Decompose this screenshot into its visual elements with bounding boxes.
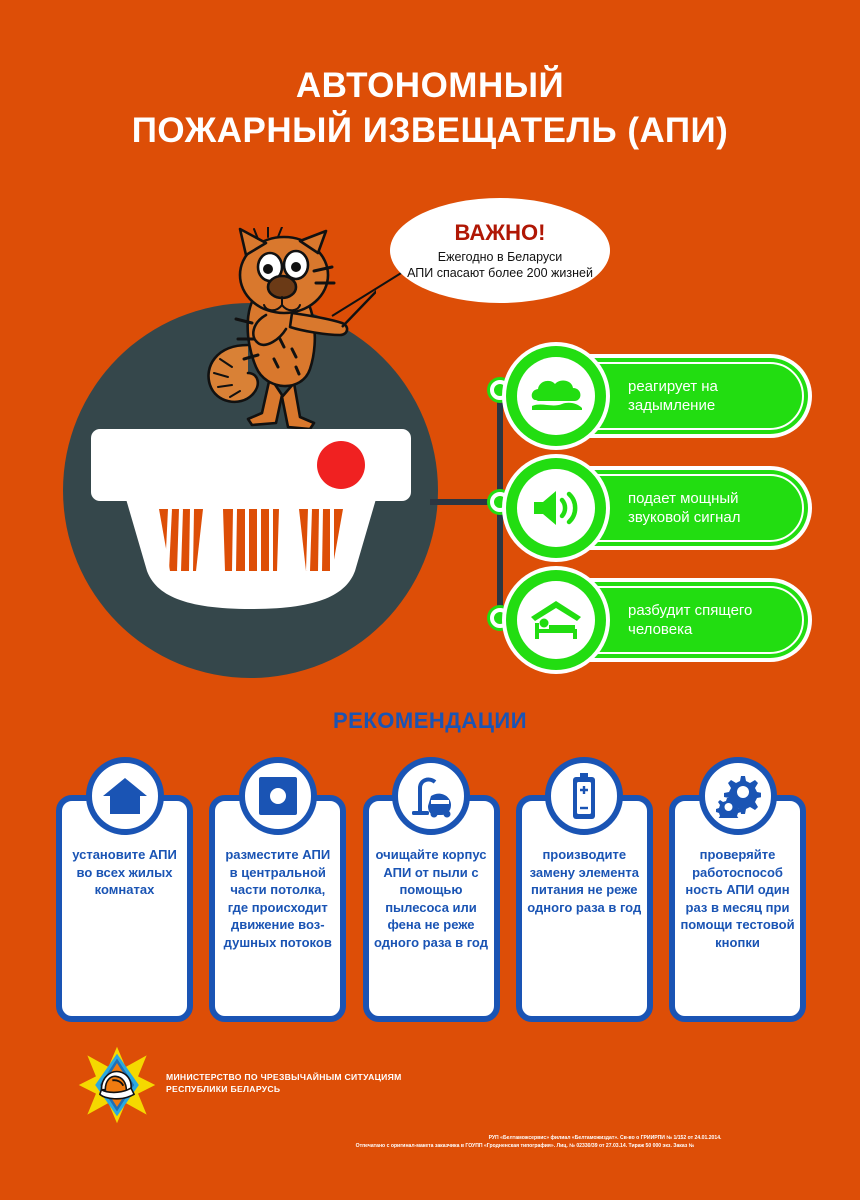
legal-line-1: РУП «Белтаможсервис» филиал «Белтаможизд… xyxy=(200,1134,850,1142)
loud-speaker-icon xyxy=(530,486,582,530)
important-callout: ВАЖНО! Ежегодно в Беларуси АПИ спасают б… xyxy=(390,198,610,303)
recommendations-heading: РЕКОМЕНДАЦИИ xyxy=(0,708,860,734)
badge-label-line-1: реагирует на xyxy=(628,377,718,396)
card-text: установите АПИ во всех жилых комнатах xyxy=(67,846,182,899)
house-icon xyxy=(86,757,164,835)
poster-root: АВТОНОМНЫЙ ПОЖАРНЫЙ ИЗВЕЩАТЕЛЬ (АПИ) ВАЖ… xyxy=(0,0,860,1200)
smoke-detector-icon xyxy=(63,303,438,693)
title-line-1: АВТОНОМНЫЙ xyxy=(296,66,564,105)
badge-label: разбудит спящего человека xyxy=(628,582,798,658)
recommendation-card[interactable]: установите АПИ во всех жилых комнатах xyxy=(56,757,193,1022)
organization-line-1: МИНИСТЕРСТВО ПО ЧРЕЗВЫЧАЙНЫМ СИТУАЦИЯМ xyxy=(166,1071,496,1083)
battery-icon xyxy=(545,757,623,835)
organization-name: МИНИСТЕРСТВО ПО ЧРЕЗВЫЧАЙНЫМ СИТУАЦИЯМ Р… xyxy=(166,1071,496,1095)
recommendation-card[interactable]: разместите АПИ в центральной части потол… xyxy=(209,757,346,1022)
title-line-2: ПОЖАРНЫЙ ИЗВЕЩАТЕЛЬ (АПИ) xyxy=(0,108,860,153)
organization-line-2: РЕСПУБЛИКИ БЕЛАРУСЬ xyxy=(166,1083,496,1095)
badge-label-line-2: человека xyxy=(628,620,752,639)
card-text: разместите АПИ в центральной части потол… xyxy=(220,846,335,951)
badge-label: подает мощный звуковой сигнал xyxy=(628,470,798,546)
callout-heading: ВАЖНО! xyxy=(455,221,546,245)
badge-label-line-1: разбудит спящего xyxy=(628,601,752,620)
page-title: АВТОНОМНЫЙ ПОЖАРНЫЙ ИЗВЕЩАТЕЛЬ (АПИ) xyxy=(0,63,860,153)
callout-line-2: АПИ спасают более 200 жизней xyxy=(395,265,605,281)
ceiling-detector-icon xyxy=(239,757,317,835)
badge-icon-holder xyxy=(506,458,606,558)
recommendation-card[interactable]: проверяйте работоспособ ность АПИ один р… xyxy=(669,757,806,1022)
card-text: производите замену элемента питания не р… xyxy=(527,846,642,916)
legal-imprint: РУП «Белтаможсервис» филиал «Белтаможизд… xyxy=(200,1134,850,1150)
gears-icon xyxy=(699,757,777,835)
badge-icon-holder xyxy=(506,570,606,670)
vacuum-cleaner-icon xyxy=(392,757,470,835)
callout-line-1: Ежегодно в Беларуси xyxy=(426,249,575,265)
feature-badge-wake[interactable]: разбудит спящего человека xyxy=(528,582,808,658)
recommendation-card-list: установите АПИ во всех жилых комнатах ра… xyxy=(56,757,806,1022)
feature-badge-smoke[interactable]: реагирует на задымление xyxy=(528,358,808,434)
sleeping-person-icon xyxy=(529,599,583,641)
badge-label-line-2: задымление xyxy=(628,396,718,415)
badge-label-line-2: звуковой сигнал xyxy=(628,508,741,527)
card-text: очищайте корпус АПИ от пыли с помощью пы… xyxy=(374,846,489,951)
mchs-star-helmet-emblem xyxy=(78,1046,156,1124)
card-text: проверяйте работоспособ ность АПИ один р… xyxy=(680,846,795,951)
recommendation-card[interactable]: очищайте корпус АПИ от пыли с помощью пы… xyxy=(363,757,500,1022)
badge-label: реагирует на задымление xyxy=(628,358,798,434)
badge-label-line-1: подает мощный xyxy=(628,489,741,508)
legal-line-2: Отпечатано с оригинал-макета заказчика в… xyxy=(200,1142,850,1150)
smoke-cloud-icon xyxy=(528,376,584,416)
feature-badge-sound[interactable]: подает мощный звуковой сигнал xyxy=(528,470,808,546)
recommendation-card[interactable]: производите замену элемента питания не р… xyxy=(516,757,653,1022)
badge-icon-holder xyxy=(506,346,606,446)
